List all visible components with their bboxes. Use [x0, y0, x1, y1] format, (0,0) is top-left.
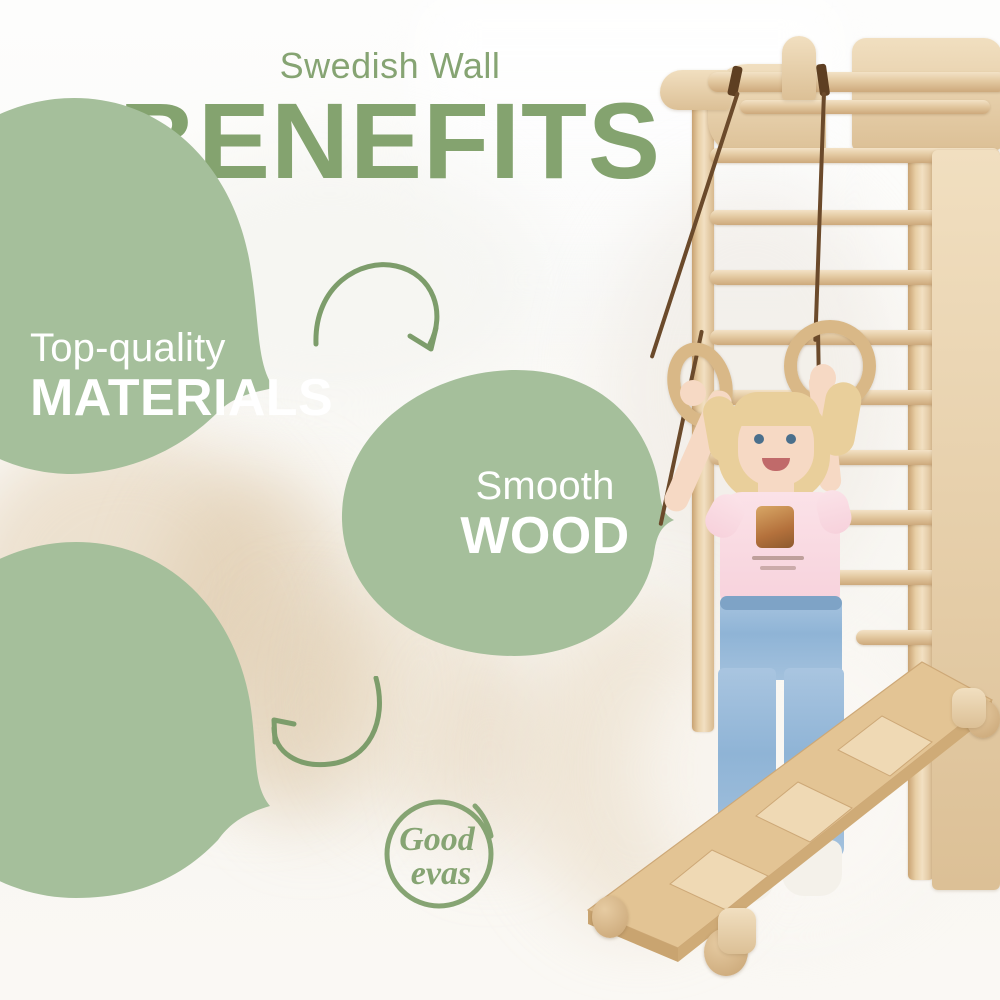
- svg-text:Good: Good: [399, 821, 476, 858]
- bubble-materials-text: Top-quality MATERIALS: [30, 328, 300, 425]
- brand-logo: Good evas: [375, 792, 503, 918]
- benefit-bubble-coating: Natural oil COATING: [0, 540, 278, 900]
- poster-canvas: Swedish Wall BENEFITS Top-quality MATERI…: [0, 0, 1000, 1000]
- bubble-materials-big: MATERIALS: [30, 371, 300, 425]
- bubble-materials-small: Top-quality: [30, 328, 300, 370]
- pullup-bar: [708, 72, 1000, 92]
- benefit-bubble-materials: Top-quality MATERIALS: [0, 96, 282, 476]
- arrow-materials-to-wood-icon: [300, 252, 460, 392]
- arrow-wood-to-coating-icon: [248, 676, 388, 791]
- svg-text:evas: evas: [411, 855, 471, 892]
- product-photo: [560, 0, 1000, 1000]
